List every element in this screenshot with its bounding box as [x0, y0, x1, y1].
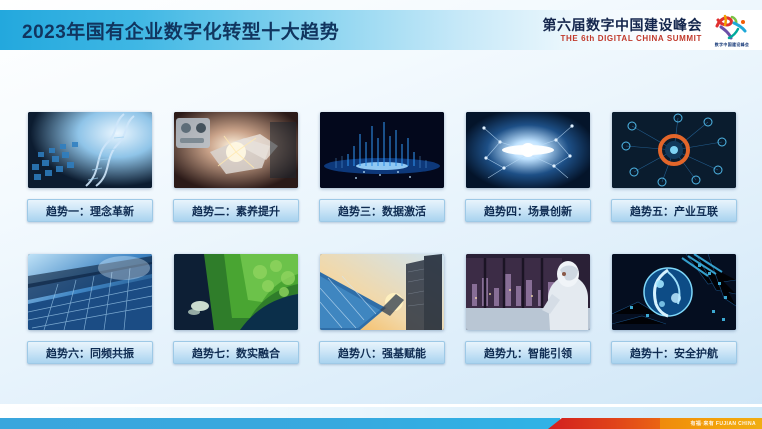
trend-card[interactable]: 趋势一：理念革新: [26, 112, 154, 246]
footer-text: 有福·来有 FUJIAN CHINA: [690, 419, 756, 428]
trend-card-label: 趋势九：智能引领: [465, 341, 591, 364]
trend-card-label: 趋势一：理念革新: [27, 199, 153, 222]
summit-text-block: 第六届数字中国建设峰会 THE 6th DIGITAL CHINA SUMMIT: [543, 18, 703, 43]
footer-red-band: [548, 418, 668, 429]
green-forest-water-image: [174, 254, 298, 330]
trend-card[interactable]: 趋势十：安全护航: [610, 254, 738, 388]
trend-card[interactable]: 趋势二：素养提升: [172, 112, 300, 246]
digital-china-calligraphy-logo-icon: [712, 13, 752, 41]
trend-card[interactable]: 趋势四：场景创新: [464, 112, 592, 246]
robotic-hands-sparks-image: [174, 112, 298, 188]
light-burst-network-image: [466, 112, 590, 188]
trend-card[interactable]: 趋势三：数据激活: [318, 112, 446, 246]
trend-card[interactable]: 趋势五：产业互联: [610, 112, 738, 246]
trend-card[interactable]: 趋势九：智能引领: [464, 254, 592, 388]
trend-card-label: 趋势十：安全护航: [611, 341, 737, 364]
summit-title-en: THE 6th DIGITAL CHINA SUMMIT: [560, 35, 702, 43]
trend-card[interactable]: 趋势六：同频共振: [26, 254, 154, 388]
industrial-iot-hub-image: [612, 112, 736, 188]
footer-bar: 有福·来有 FUJIAN CHINA: [0, 407, 762, 429]
blue-data-waveform-image: [320, 112, 444, 188]
trend-card-label: 趋势七：数实融合: [173, 341, 299, 364]
logo-subtitle: 数字中国建设峰会: [715, 42, 749, 48]
trend-card-label: 趋势六：同频共振: [27, 341, 153, 364]
trend-card[interactable]: 趋势八：强基赋能: [318, 254, 446, 388]
solar-panel-array-image: [28, 254, 152, 330]
summit-branding: 第六届数字中国建设峰会 THE 6th DIGITAL CHINA SUMMIT…: [543, 10, 755, 50]
summit-title-cn: 第六届数字中国建设峰会: [543, 18, 703, 32]
trend-card-label: 趋势三：数据激活: [319, 199, 445, 222]
digital-china-logo: 数字中国建设峰会: [710, 11, 754, 49]
slide-root: 2023年国有企业数字化转型十大趋势 第六届数字中国建设峰会 THE 6th D…: [0, 0, 762, 429]
trend-card-label: 趋势四：场景创新: [465, 199, 591, 222]
humanoid-robot-city-window-image: [466, 254, 590, 330]
footer-sky-band: [0, 407, 762, 418]
blue-shield-circuit-sphere-image: [612, 254, 736, 330]
trend-card-label: 趋势二：素养提升: [173, 199, 299, 222]
footer-blue-band: [0, 418, 560, 429]
trend-card-label: 趋势八：强基赋能: [319, 341, 445, 364]
page-title: 2023年国有企业数字化转型十大趋势: [22, 17, 339, 44]
trend-card[interactable]: 趋势七：数实融合: [172, 254, 300, 388]
solar-panel-sunset-city-image: [320, 254, 444, 330]
data-tunnel-dna-helix-image: [28, 112, 152, 188]
trend-card-grid: 趋势一：理念革新: [26, 112, 738, 388]
trend-card-label: 趋势五：产业互联: [611, 199, 737, 222]
